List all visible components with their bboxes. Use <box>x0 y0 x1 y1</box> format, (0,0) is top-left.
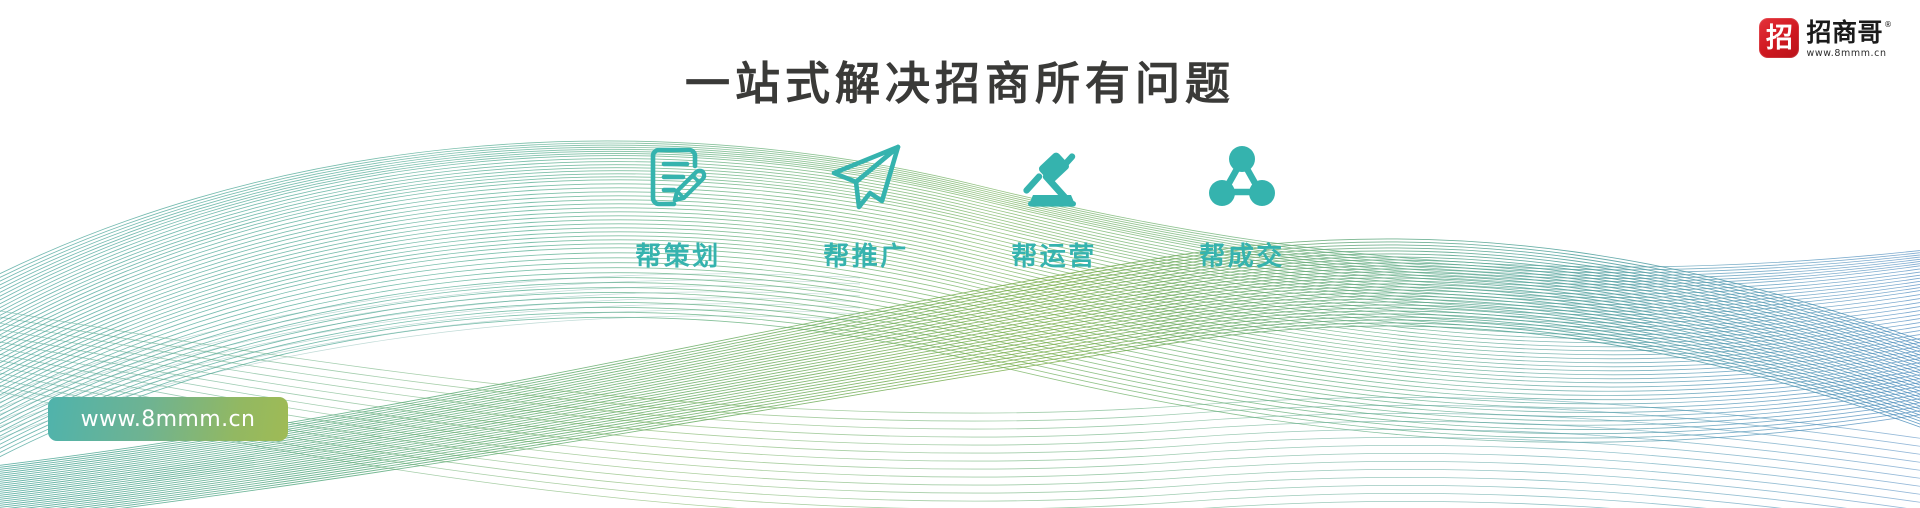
promo-banner: 招 招商哥 ® www.8mmm.cn 一站式解决招商所有问题 <box>0 0 1920 508</box>
feature-item-planning[interactable]: 帮策划 <box>618 136 738 273</box>
logo-wordmark-line: 招商哥 ® <box>1806 19 1892 46</box>
network-nodes-icon <box>1201 136 1283 218</box>
logo-text-group: 招商哥 ® www.8mmm.cn <box>1806 18 1892 59</box>
feature-item-deal[interactable]: 帮成交 <box>1182 136 1302 273</box>
feature-item-operations[interactable]: 帮运营 <box>994 136 1114 273</box>
page-title: 一站式解决招商所有问题 <box>0 57 1920 110</box>
feature-item-promotion[interactable]: 帮推广 <box>806 136 926 273</box>
brand-logo[interactable]: 招 招商哥 ® www.8mmm.cn <box>1759 18 1892 59</box>
feature-list: 帮策划 帮推广 帮运营 <box>0 136 1920 273</box>
feature-label: 帮运营 <box>1011 236 1097 273</box>
logo-wordmark: 招商哥 <box>1806 19 1883 46</box>
gavel-icon <box>1013 136 1095 218</box>
feature-label: 帮成交 <box>1199 236 1285 273</box>
website-url-badge[interactable]: www.8mmm.cn <box>48 397 288 441</box>
logo-mark-icon: 招 <box>1759 18 1799 58</box>
feature-label: 帮推广 <box>823 236 909 273</box>
document-pencil-icon <box>637 136 719 218</box>
logo-mark-character: 招 <box>1766 25 1793 52</box>
paper-plane-icon <box>825 136 907 218</box>
feature-label: 帮策划 <box>635 236 721 273</box>
website-url-text: www.8mmm.cn <box>81 407 256 432</box>
registered-trademark-icon: ® <box>1884 21 1892 29</box>
